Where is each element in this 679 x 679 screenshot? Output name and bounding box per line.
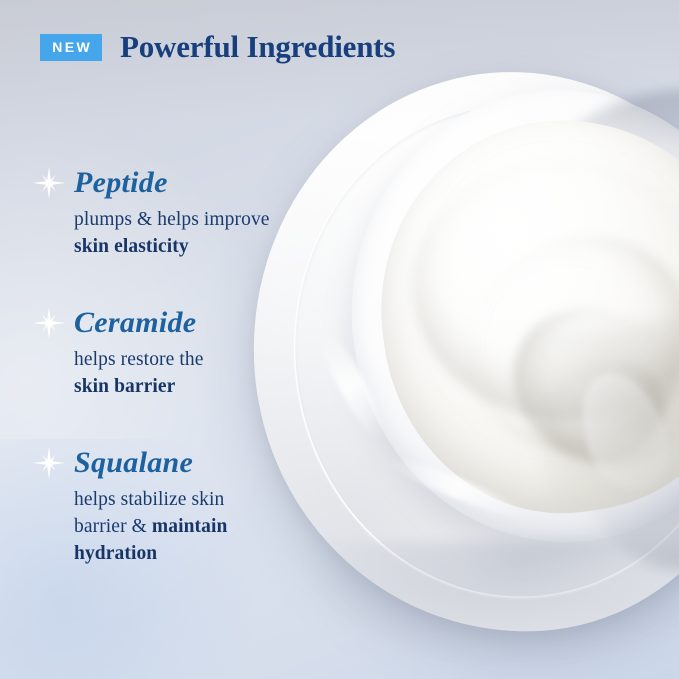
header: NEW Powerful Ingredients (40, 29, 395, 65)
ingredient-name: Ceramide (74, 308, 196, 338)
desc-line-bold: maintain (152, 516, 228, 537)
ingredient-item-peptide: Peptide plumps & helps improve skin elas… (32, 166, 332, 261)
desc-line-text: barrier & (74, 516, 152, 537)
desc-line-text: helps restore the (74, 349, 204, 370)
ingredient-heading: Peptide (32, 166, 332, 200)
sparkle-icon (32, 306, 66, 340)
sparkle-icon (32, 166, 66, 200)
promo-graphic: NEW Powerful Ingredients Peptide plumps … (0, 0, 679, 679)
ingredient-item-ceramide: Ceramide helps restore the skin barrier (32, 306, 332, 401)
ingredient-name: Peptide (74, 168, 168, 198)
ingredient-description: plumps & helps improve skin elasticity (74, 207, 332, 261)
page-title: Powerful Ingredients (120, 29, 395, 65)
ingredient-item-squalane: Squalane helps stabilize skin barrier & … (32, 446, 332, 568)
desc-line-text: helps stabilize skin (74, 489, 224, 510)
desc-line-bold: hydration (74, 543, 157, 564)
ingredient-description: helps stabilize skin barrier & maintain … (74, 487, 332, 568)
ingredient-description: helps restore the skin barrier (74, 347, 332, 401)
sparkle-icon (32, 446, 66, 480)
ingredient-heading: Squalane (32, 446, 332, 480)
desc-line-text: plumps & helps improve (74, 209, 270, 230)
ingredient-heading: Ceramide (32, 306, 332, 340)
ingredient-name: Squalane (74, 448, 193, 478)
new-badge: NEW (40, 34, 102, 61)
desc-line-bold: skin elasticity (74, 236, 189, 257)
desc-line-bold: skin barrier (74, 376, 175, 397)
